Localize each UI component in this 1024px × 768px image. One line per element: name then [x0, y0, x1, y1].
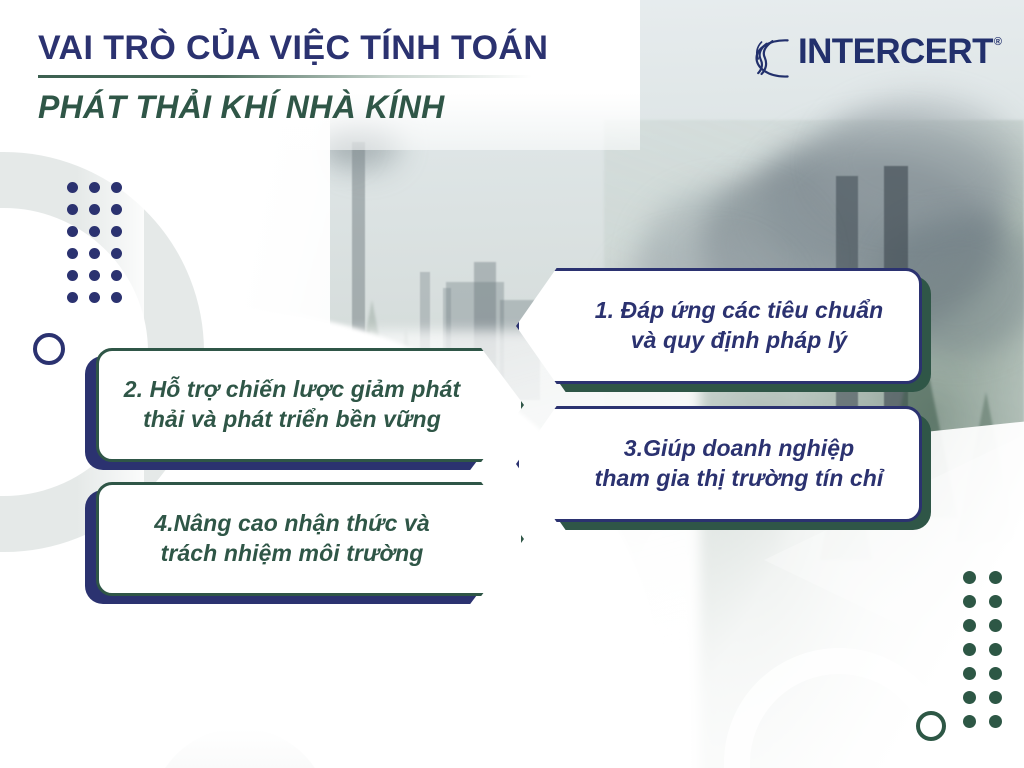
callout-text-4: 4.Nâng cao nhận thức và trách nhiệm môi …	[138, 509, 482, 569]
dot	[111, 226, 122, 237]
dot	[963, 715, 976, 728]
callout-text-2: 2. Hỗ trợ chiến lược giảm phát thải và p…	[108, 375, 513, 435]
callout-text-3: 3.Giúp doanh nghiệp tham gia thị trường …	[539, 434, 900, 494]
callout-body: 3.Giúp doanh nghiệp tham gia thị trường …	[516, 406, 922, 522]
callout-body: 1. Đáp ứng các tiêu chuẩn và quy định ph…	[516, 268, 922, 384]
dot	[963, 595, 976, 608]
dot	[111, 204, 122, 215]
infographic-poster: VAI TRÒ CỦA VIỆC TÍNH TOÁN PHÁT THẢI KHÍ…	[0, 0, 1024, 768]
callout-box-1[interactable]: 1. Đáp ứng các tiêu chuẩn và quy định ph…	[516, 268, 922, 384]
dot	[963, 619, 976, 632]
logo-wordmark: INTERCERT	[798, 34, 993, 69]
dot	[89, 270, 100, 281]
callout-body: 4.Nâng cao nhận thức và trách nhiệm môi …	[96, 482, 524, 596]
dot	[111, 182, 122, 193]
dot	[67, 204, 78, 215]
circle-outline-green	[916, 711, 946, 741]
callout-box-4[interactable]: 4.Nâng cao nhận thức và trách nhiệm môi …	[96, 482, 524, 596]
dot-grid-green	[963, 571, 1015, 739]
dot	[89, 204, 100, 215]
dot	[989, 571, 1002, 584]
dot-grid-navy	[67, 182, 133, 314]
dot	[89, 226, 100, 237]
dot	[989, 691, 1002, 704]
callout-body: 2. Hỗ trợ chiến lược giảm phát thải và p…	[96, 348, 524, 462]
registered-trademark-icon: ®	[994, 36, 1002, 48]
dot	[89, 248, 100, 259]
dot	[963, 643, 976, 656]
dot	[963, 667, 976, 680]
circle-outline-navy	[33, 333, 65, 365]
dot	[89, 182, 100, 193]
dot	[111, 248, 122, 259]
dot	[989, 643, 1002, 656]
callout-box-3[interactable]: 3.Giúp doanh nghiệp tham gia thị trường …	[516, 406, 922, 522]
dot	[963, 691, 976, 704]
dot	[67, 292, 78, 303]
dot	[67, 270, 78, 281]
dot	[67, 226, 78, 237]
dot	[989, 715, 1002, 728]
page-title-primary: VAI TRÒ CỦA VIỆC TÍNH TOÁN	[38, 28, 758, 68]
title-divider	[38, 75, 532, 78]
globe-swoosh-icon	[754, 36, 796, 80]
page-header: VAI TRÒ CỦA VIỆC TÍNH TOÁN PHÁT THẢI KHÍ…	[38, 28, 758, 127]
dot	[111, 270, 122, 281]
dot	[989, 619, 1002, 632]
callout-text-1: 1. Đáp ứng các tiêu chuẩn và quy định ph…	[539, 296, 900, 356]
page-title-secondary: PHÁT THẢI KHÍ NHÀ KÍNH	[38, 89, 758, 127]
brand-logo[interactable]: INTERCERT ®	[754, 34, 1002, 80]
callout-box-2[interactable]: 2. Hỗ trợ chiến lược giảm phát thải và p…	[96, 348, 524, 462]
dot	[963, 571, 976, 584]
dot	[989, 667, 1002, 680]
dot	[989, 595, 1002, 608]
dot	[111, 292, 122, 303]
dot	[67, 182, 78, 193]
dot	[89, 292, 100, 303]
dot	[67, 248, 78, 259]
